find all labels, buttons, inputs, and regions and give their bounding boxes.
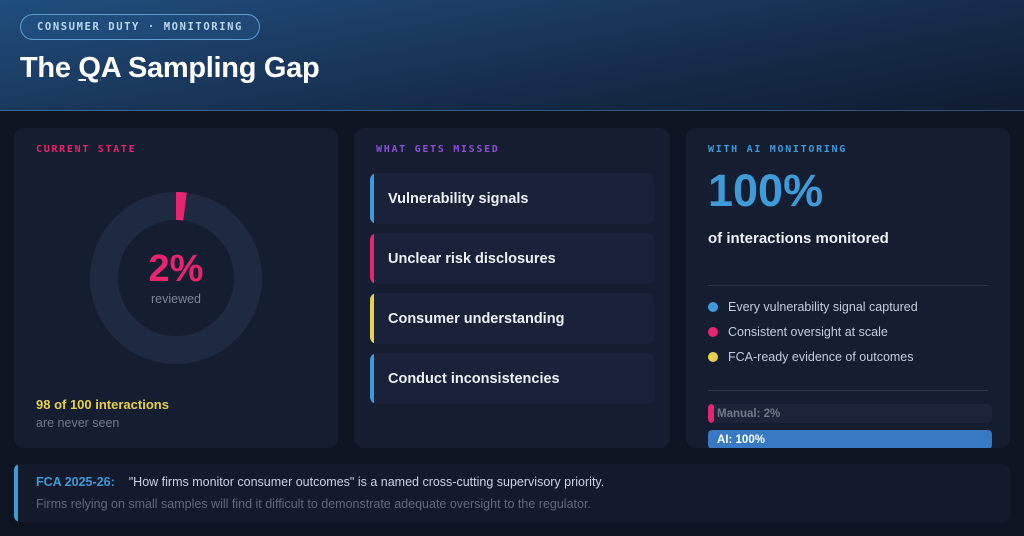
divider <box>708 390 988 391</box>
panels-row: CURRENT STATE 2% reviewed 98 of 100 inte… <box>14 128 1010 448</box>
donut-percent: 2% <box>149 250 204 288</box>
item-accent-bar <box>370 233 374 284</box>
list-item-label: Consumer understanding <box>388 311 564 327</box>
list-item-label: Vulnerability signals <box>388 191 528 207</box>
category-badge: CONSUMER DUTY · MONITORING <box>20 14 260 40</box>
current-state-stat: 98 of 100 interactions <box>36 397 169 412</box>
bar-ai-label: AI: 100% <box>717 434 765 446</box>
legend-item-label: FCA-ready evidence of outcomes <box>728 350 914 364</box>
list-item-label: Conduct inconsistencies <box>388 371 560 387</box>
panel-what-gets-missed: WHAT GETS MISSED Vulnerability signals U… <box>354 128 670 448</box>
infographic-page: CONSUMER DUTY · MONITORING The QA Sampli… <box>0 0 1024 536</box>
footer-primary-line: FCA 2025-26:"How firms monitor consumer … <box>36 475 604 489</box>
footer-callout: FCA 2025-26:"How firms monitor consumer … <box>14 464 1010 522</box>
title-underlined-letter: Q <box>78 52 100 84</box>
list-item: Consistent oversight at scale <box>708 325 918 339</box>
title-prefix: The <box>20 52 78 84</box>
donut-center-label: 2% reviewed <box>90 192 262 364</box>
list-item: Unclear risk disclosures <box>370 233 654 284</box>
bar-manual-label: Manual: 2% <box>717 408 780 420</box>
donut-sublabel: reviewed <box>151 292 201 306</box>
missed-items-list: Vulnerability signals Unclear risk discl… <box>370 173 654 404</box>
bar-manual: Manual: 2% <box>708 404 992 423</box>
list-item: Conduct inconsistencies <box>370 353 654 404</box>
bullet-dot-icon <box>708 302 718 312</box>
list-item: Consumer understanding <box>370 293 654 344</box>
footer-reference: FCA 2025-26: <box>36 475 115 489</box>
item-accent-bar <box>370 353 374 404</box>
list-item-label: Unclear risk disclosures <box>388 251 556 267</box>
panel-with-ai-monitoring-label: WITH AI MONITORING <box>708 144 847 155</box>
benefits-legend: Every vulnerability signal captured Cons… <box>708 300 918 364</box>
bullet-dot-icon <box>708 352 718 362</box>
panel-what-gets-missed-label: WHAT GETS MISSED <box>376 144 500 155</box>
panel-current-state-label: CURRENT STATE <box>36 144 136 155</box>
item-accent-bar <box>370 293 374 344</box>
category-badge-label: CONSUMER DUTY · MONITORING <box>37 21 243 33</box>
title-rest: A Sampling Gap <box>101 52 320 84</box>
list-item: Every vulnerability signal captured <box>708 300 918 314</box>
current-state-stat-sub: are never seen <box>36 416 169 430</box>
current-state-footnote: 98 of 100 interactions are never seen <box>36 397 169 430</box>
footer-secondary-line: Firms relying on small samples will find… <box>36 497 591 511</box>
comparison-bars: Manual: 2% AI: 100% <box>708 404 992 448</box>
ai-coverage-percent: 100% <box>708 168 823 213</box>
footer-accent-bar <box>14 464 18 522</box>
list-item: Vulnerability signals <box>370 173 654 224</box>
footer-quote: "How firms monitor consumer outcomes" is… <box>129 475 604 489</box>
page-title: The QA Sampling Gap <box>20 52 319 85</box>
bar-manual-fill <box>708 404 714 423</box>
panel-current-state: CURRENT STATE 2% reviewed 98 of 100 inte… <box>14 128 338 448</box>
ai-coverage-sublabel: of interactions monitored <box>708 228 928 250</box>
list-item: FCA-ready evidence of outcomes <box>708 350 918 364</box>
donut-chart: 2% reviewed <box>14 180 338 375</box>
panel-with-ai-monitoring: WITH AI MONITORING 100% of interactions … <box>686 128 1010 448</box>
legend-item-label: Consistent oversight at scale <box>728 325 888 339</box>
page-header: CONSUMER DUTY · MONITORING The QA Sampli… <box>0 0 1024 111</box>
bullet-dot-icon <box>708 327 718 337</box>
item-accent-bar <box>370 173 374 224</box>
bar-ai: AI: 100% <box>708 430 992 448</box>
divider <box>708 285 988 286</box>
legend-item-label: Every vulnerability signal captured <box>728 300 918 314</box>
